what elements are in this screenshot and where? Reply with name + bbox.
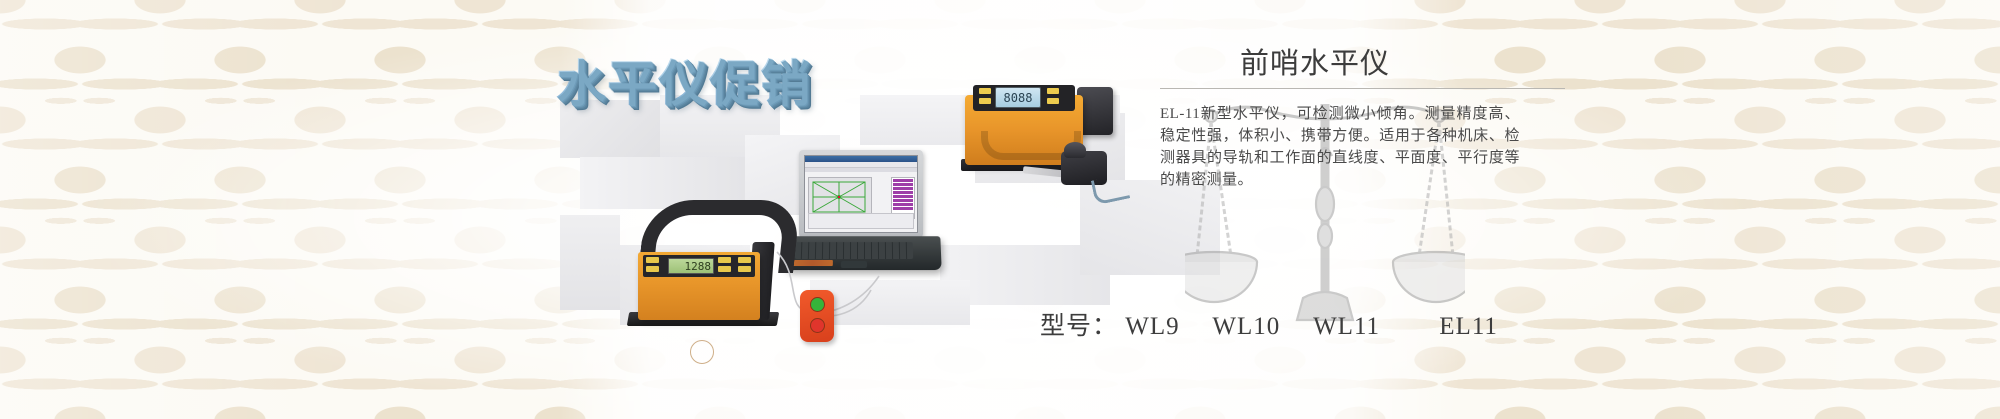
device1-button <box>738 266 751 272</box>
device1-lcd: 1288 <box>668 258 714 274</box>
device2-dial-head <box>1064 142 1086 158</box>
main-title: 水平仪促销 <box>556 44 811 115</box>
device2-button <box>979 98 991 104</box>
sub-title: 前哨水平仪 <box>1160 40 1780 82</box>
laptop-lid <box>799 150 923 238</box>
device2-button <box>1047 88 1059 94</box>
software-footer-table <box>808 213 914 229</box>
software-toolbar <box>805 168 917 172</box>
device1-seal <box>690 340 714 364</box>
title-divider <box>1160 88 1565 89</box>
device1-button <box>738 257 751 263</box>
product-level-device-2: 8088 <box>965 85 1125 200</box>
device1-button <box>646 266 659 272</box>
right-text-column: 前哨水平仪 EL-11新型水平仪，可检测微小倾角。测量精度高、稳定性强，体积小、… <box>1160 40 1780 191</box>
model-numbers: 型号： WL9 WL10 WL11 EL11 <box>1040 306 1498 342</box>
device2-lcd: 8088 <box>995 87 1041 108</box>
device1-button <box>718 257 731 263</box>
device1-button <box>718 266 731 272</box>
promo-banner: 水平仪促销 水平仪促销 <box>0 0 2000 419</box>
remote-green-button <box>810 297 825 312</box>
device2-button <box>979 88 991 94</box>
product-remote <box>800 290 834 342</box>
decor-rect <box>560 215 620 310</box>
laptop-screen <box>804 155 918 233</box>
product-description: EL-11新型水平仪，可检测微小倾角。测量精度高、稳定性强，体积小、携带方便。适… <box>1160 103 1520 191</box>
device1-button <box>646 257 659 263</box>
remote-red-button <box>810 318 825 333</box>
device2-button <box>1047 98 1059 104</box>
device-cable <box>775 250 905 330</box>
